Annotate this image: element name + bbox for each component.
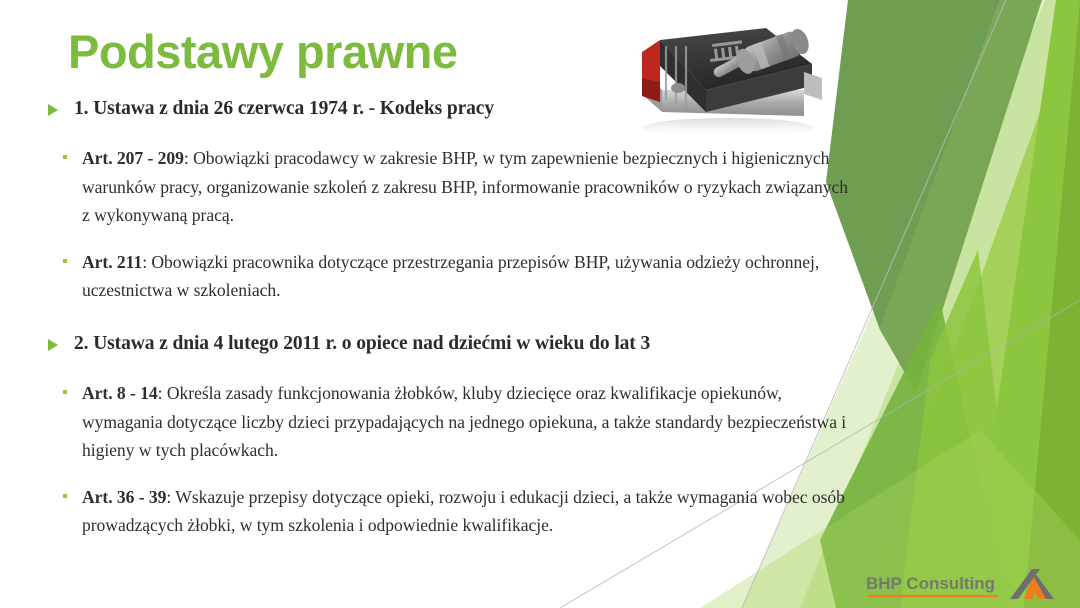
dot-bullet-icon [48,144,82,159]
list-item: Art. 211: Obowiązki pracownika dotyczące… [48,248,858,305]
bg-shape-mid-lower-2 [900,250,1020,608]
page-title: Podstawy prawne [68,24,458,79]
section-heading-row: 2. Ustawa z dnia 4 lutego 2011 r. o opie… [48,331,858,357]
list-item-text: Art. 8 - 14: Określa zasady funkcjonowan… [82,379,854,465]
list-item: Art. 36 - 39: Wskazuje przepisy dotycząc… [48,483,858,540]
list-item-body: : Obowiązki pracownika dotyczące przestr… [82,252,819,301]
dot-bullet-icon [48,379,82,394]
bg-shape-vivid [968,0,1080,608]
brand-logo: BHP Consulting [866,565,1072,605]
list-item-label: Art. 211 [82,252,142,272]
list-item-text: Art. 207 - 209: Obowiązki pracodawcy w z… [82,144,854,230]
list-item-label: Art. 36 - 39 [82,487,166,507]
list-item-body: : Wskazuje przepisy dotyczące opieki, ro… [82,487,845,536]
dot-bullet-icon [48,248,82,263]
slide-body: 1. Ustawa z dnia 26 czerwca 1974 r. - Ko… [48,96,858,540]
list-item-text: Art. 211: Obowiązki pracownika dotyczące… [82,248,854,305]
logo-text: BHP Consulting [866,574,995,593]
dot-bullet-icon [48,483,82,498]
bg-shape-bright [862,0,1080,608]
list-item-body: : Określa zasady funkcjonowania żłobków,… [82,383,846,460]
bg-shape-sage-2 [880,0,1042,392]
list-item: Art. 207 - 209: Obowiązki pracodawcy w z… [48,144,858,230]
gavel-handle-tip [671,83,685,93]
slide: Podstawy prawne [0,0,1080,608]
list-item-label: Art. 8 - 14 [82,383,158,403]
list-item: Art. 8 - 14: Określa zasady funkcjonowan… [48,379,858,465]
section-heading: 2. Ustawa z dnia 4 lutego 2011 r. o opie… [74,331,650,357]
logo-chevron-mark [1010,569,1054,599]
list-item-text: Art. 36 - 39: Wskazuje przepisy dotycząc… [82,483,854,540]
list-item-body: : Obowiązki pracodawcy w zakresie BHP, w… [82,148,848,225]
triangle-bullet-icon [48,96,74,116]
bg-shape-vivid-2 [1024,0,1080,608]
section-heading: 1. Ustawa z dnia 26 czerwca 1974 r. - Ko… [74,96,494,122]
list-item-label: Art. 207 - 209 [82,148,184,168]
section-heading-row: 1. Ustawa z dnia 26 czerwca 1974 r. - Ko… [48,96,858,122]
triangle-bullet-icon [48,331,74,351]
